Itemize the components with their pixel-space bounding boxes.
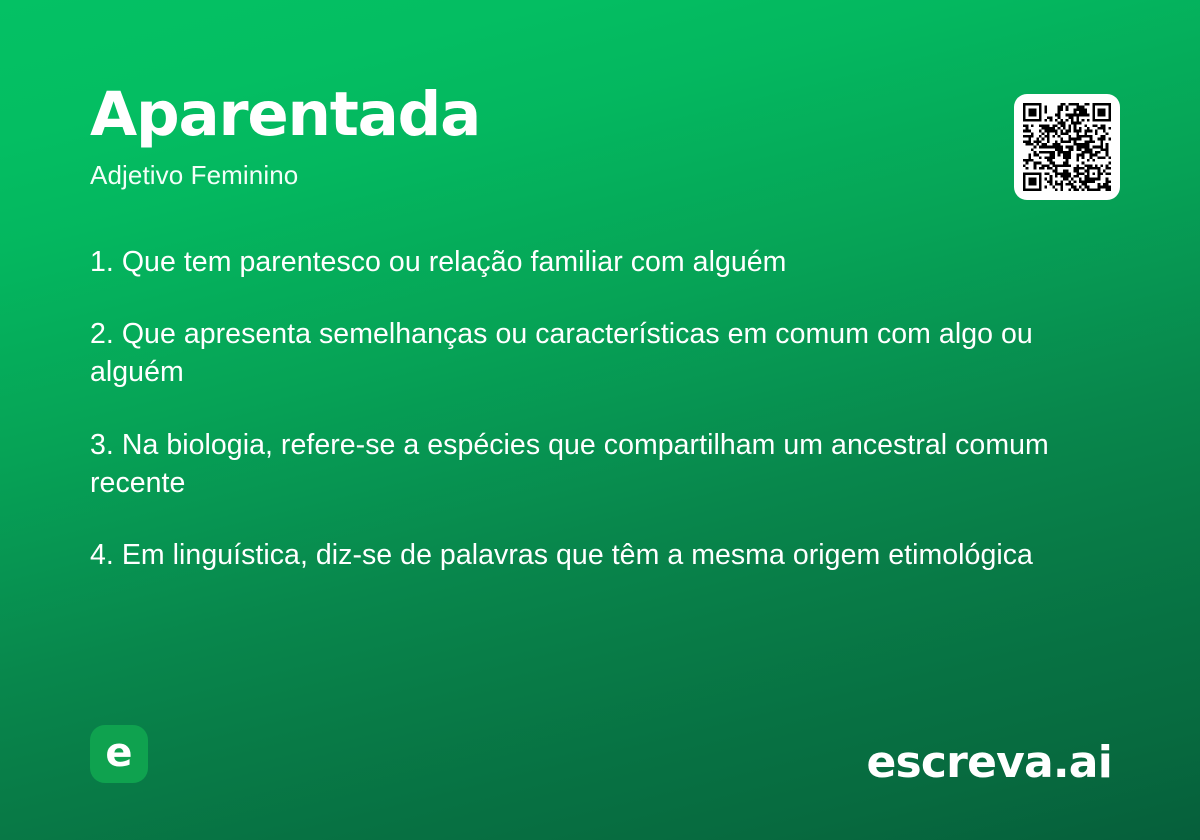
qr-code-icon xyxy=(1023,103,1111,191)
word-definition-card: Aparentada Adjetivo Feminino 1. Que tem … xyxy=(0,0,1200,840)
part-of-speech-label: Adjetivo Feminino xyxy=(90,161,950,190)
page-title: Aparentada xyxy=(90,84,950,145)
card-footer: e escreva.ai xyxy=(0,710,1200,840)
list-item: 1. Que tem parentesco ou relação familia… xyxy=(90,243,1112,281)
brand-logo-letter: e xyxy=(105,733,132,773)
brand-logo: e xyxy=(90,725,148,783)
list-item: 4. Em linguística, diz-se de palavras qu… xyxy=(90,536,1112,574)
definitions-list: 1. Que tem parentesco ou relação familia… xyxy=(90,243,1112,574)
card-header: Aparentada Adjetivo Feminino xyxy=(90,84,950,190)
list-item: 2. Que apresenta semelhanças ou caracter… xyxy=(90,315,1112,391)
qr-code[interactable] xyxy=(1014,94,1120,200)
list-item: 3. Na biologia, refere-se a espécies que… xyxy=(90,426,1112,502)
brand-name: escreva.ai xyxy=(866,741,1112,785)
